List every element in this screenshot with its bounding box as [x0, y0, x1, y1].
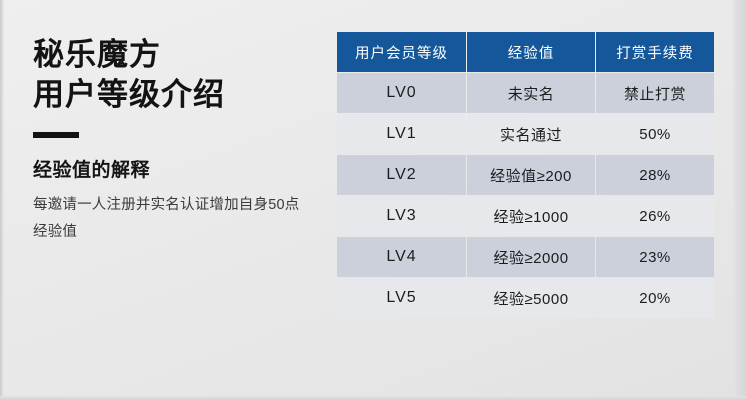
section-body-text: 每邀请一人注册并实名认证增加自身50点经验值: [33, 192, 313, 246]
table-row: LV3 经验≥1000 26%: [337, 196, 714, 236]
slide-title-line-2: 用户等级介绍: [33, 76, 323, 114]
cell-experience: 经验≥5000: [467, 278, 595, 318]
table-row: LV5 经验≥5000 20%: [337, 278, 714, 318]
cell-fee: 26%: [596, 196, 714, 236]
table-header: 用户会员等级 经验值 打赏手续费: [337, 32, 714, 72]
slide-canvas: 秘乐魔方 用户等级介绍 经验值的解释 每邀请一人注册并实名认证增加自身50点经验…: [0, 0, 746, 400]
slide-title-line-1: 秘乐魔方: [33, 36, 323, 74]
table-row: LV4 经验≥2000 23%: [337, 237, 714, 277]
cell-level: LV2: [337, 155, 466, 195]
cell-level: LV4: [337, 237, 466, 277]
cell-level: LV1: [337, 114, 466, 154]
level-table-container: 用户会员等级 经验值 打赏手续费 LV0 未实名 禁止打赏 LV1 实名通过 5…: [336, 31, 713, 319]
cell-fee: 28%: [596, 155, 714, 195]
cell-fee: 50%: [596, 114, 714, 154]
column-header-experience: 经验值: [467, 32, 595, 72]
table-header-row: 用户会员等级 经验值 打赏手续费: [337, 32, 714, 72]
table-body: LV0 未实名 禁止打赏 LV1 实名通过 50% LV2 经验值≥200 28…: [337, 73, 714, 318]
title-underline-rule: [33, 132, 79, 138]
table-row: LV0 未实名 禁止打赏: [337, 73, 714, 113]
column-header-fee: 打赏手续费: [596, 32, 714, 72]
cell-level: LV5: [337, 278, 466, 318]
column-header-level: 用户会员等级: [337, 32, 466, 72]
cell-fee: 禁止打赏: [596, 73, 714, 113]
cell-fee: 20%: [596, 278, 714, 318]
cell-fee: 23%: [596, 237, 714, 277]
table-row: LV1 实名通过 50%: [337, 114, 714, 154]
section-subheading: 经验值的解释: [33, 159, 323, 183]
table-row: LV2 经验值≥200 28%: [337, 155, 714, 195]
slide-left-edge: [0, 0, 4, 400]
cell-level: LV3: [337, 196, 466, 236]
slide-bottom-edge: [0, 396, 746, 400]
user-level-table: 用户会员等级 经验值 打赏手续费 LV0 未实名 禁止打赏 LV1 实名通过 5…: [336, 31, 715, 319]
cell-experience: 经验值≥200: [467, 155, 595, 195]
cell-experience: 实名通过: [467, 114, 595, 154]
left-text-column: 秘乐魔方 用户等级介绍 经验值的解释 每邀请一人注册并实名认证增加自身50点经验…: [33, 36, 323, 246]
cell-level: LV0: [337, 73, 466, 113]
cell-experience: 经验≥2000: [467, 237, 595, 277]
cell-experience: 未实名: [467, 73, 595, 113]
cell-experience: 经验≥1000: [467, 196, 595, 236]
slide-right-edge: [733, 0, 746, 400]
